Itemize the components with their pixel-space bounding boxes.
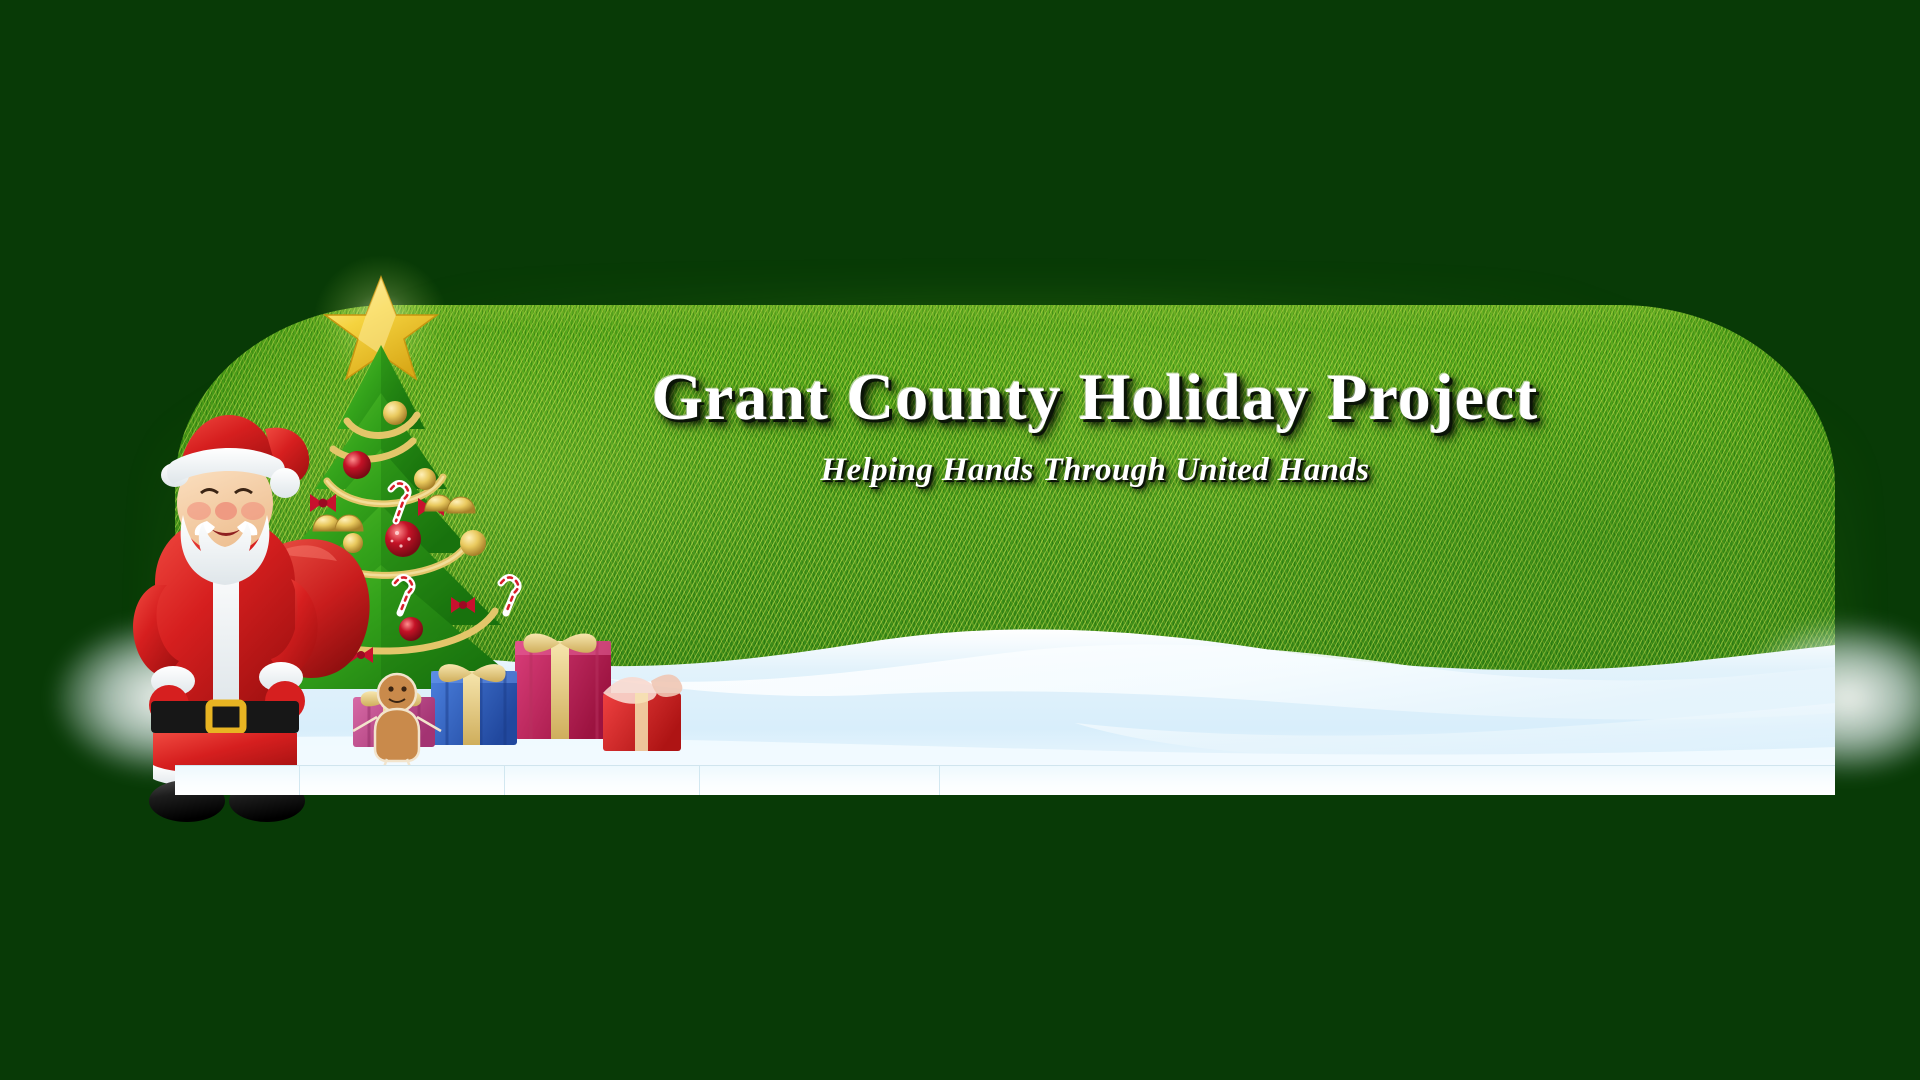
nav-item-5[interactable] xyxy=(940,766,1835,795)
nav-item-1[interactable] xyxy=(175,766,300,795)
nav-item-3[interactable] xyxy=(505,766,700,795)
page-root: Grant County Holiday Project Helping Han… xyxy=(0,0,1920,1080)
site-nav[interactable] xyxy=(175,765,1835,795)
santa-left-arm xyxy=(133,585,179,677)
site-banner: Grant County Holiday Project Helping Han… xyxy=(175,305,1835,790)
nav-item-4[interactable] xyxy=(700,766,940,795)
nav-item-2[interactable] xyxy=(300,766,505,795)
